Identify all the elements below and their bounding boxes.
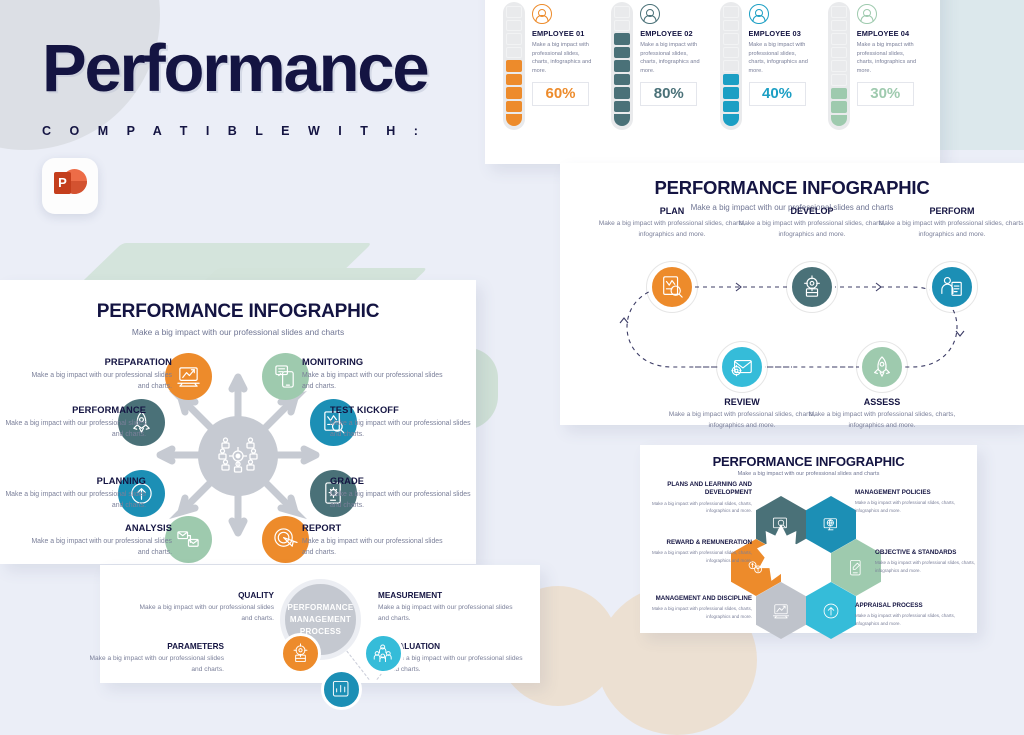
hexagon-item-label: MANAGEMENT POLICIES bbox=[855, 489, 975, 497]
thermo-segment bbox=[723, 87, 739, 99]
process-step-label: PLAN bbox=[593, 206, 751, 216]
hexagon-label-block: MANAGEMENT AND DISCIPLINEMake a big impa… bbox=[632, 595, 752, 620]
process-step-label-block: DEVELOPMake a big impact with profession… bbox=[733, 206, 891, 240]
laptop-chart-icon bbox=[772, 602, 790, 620]
thermo-segment bbox=[831, 88, 847, 100]
thermo-segment bbox=[831, 20, 847, 32]
flowchart-icon bbox=[176, 527, 201, 552]
employee-description: Make a big impact with professional slid… bbox=[532, 41, 594, 76]
pmp-label-block: PARAMETERSMake a big impact with our pro… bbox=[88, 642, 224, 675]
thermo-segment bbox=[614, 33, 630, 45]
mobile-edit-icon bbox=[847, 559, 865, 577]
wheel-icon-circle[interactable] bbox=[165, 353, 212, 400]
employee-percent: 40% bbox=[749, 82, 806, 106]
report-search-icon bbox=[660, 275, 684, 299]
employee-description: Make a big impact with professional slid… bbox=[857, 41, 919, 76]
employee-percent: 60% bbox=[532, 82, 589, 106]
wheel-icon-circle[interactable] bbox=[165, 516, 212, 563]
hexagon-item-label: OBJECTIVE & STANDARDS bbox=[875, 549, 995, 557]
thermo-segment bbox=[723, 114, 739, 126]
thermometer-gauge bbox=[828, 2, 850, 130]
thermo-segment bbox=[614, 47, 630, 59]
employee-card[interactable]: EMPLOYEE 02Make a big impact with profes… bbox=[611, 2, 709, 130]
wheel-item-desc: Make a big impact with our professional … bbox=[22, 536, 172, 559]
employee-card[interactable]: EMPLOYEE 01Make a big impact with profes… bbox=[503, 2, 601, 130]
person-document-icon bbox=[940, 275, 964, 299]
hexagon-item-desc: Make a big impact with professional slid… bbox=[632, 500, 752, 514]
process-step-label: REVIEW bbox=[663, 397, 821, 407]
thermometer-gauge bbox=[720, 2, 742, 130]
pmp-item-label: PARAMETERS bbox=[88, 642, 224, 651]
thermo-segment bbox=[831, 74, 847, 86]
hexagon-item-desc: Make a big impact with professional slid… bbox=[855, 612, 975, 626]
wheel-item-desc: Make a big impact with our professional … bbox=[0, 489, 146, 512]
hexagon-label-block: APPRAISAL PROCESSMake a big impact with … bbox=[855, 602, 975, 627]
process-step-desc: Make a big impact with professional slid… bbox=[873, 219, 1024, 240]
thermo-segment bbox=[723, 47, 739, 59]
target-machine-icon bbox=[800, 275, 824, 299]
process-step-label: PERFORM bbox=[873, 206, 1024, 216]
hexagon-label-block: REWARD & REMUNERATIONMake a big impact w… bbox=[632, 539, 752, 564]
wheel-slide-subtitle: Make a big impact with our professional … bbox=[0, 327, 476, 337]
thermo-segment bbox=[506, 47, 522, 59]
hexagon-item-desc: Make a big impact with professional slid… bbox=[632, 605, 752, 619]
thermo-segment bbox=[506, 101, 522, 113]
process-step-desc: Make a big impact with professional slid… bbox=[803, 410, 961, 431]
thermo-segment bbox=[614, 114, 630, 126]
wheel-item-desc: Make a big impact with our professional … bbox=[302, 536, 452, 559]
wheel-label-block: GRADEMake a big impact with our professi… bbox=[330, 476, 480, 512]
wheel-item-desc: Make a big impact with our professional … bbox=[22, 370, 172, 393]
pmp-icon-circle[interactable] bbox=[280, 633, 321, 674]
pmp-icon-circle[interactable] bbox=[321, 669, 362, 710]
wheel-label-block: PREPARATIONMake a big impact with our pr… bbox=[22, 357, 172, 393]
thermo-segment bbox=[831, 6, 847, 18]
thermo-segment bbox=[723, 6, 739, 18]
hexagon-item-label: REWARD & REMUNERATION bbox=[632, 539, 752, 547]
ppt-letter: P bbox=[54, 172, 71, 194]
slide-employees[interactable]: EMPLOYEE 01Make a big impact with profes… bbox=[485, 0, 940, 164]
wheel-item-desc: Make a big impact with our professional … bbox=[302, 370, 452, 393]
pmp-diagram: PERFORMANCE MANAGEMENT PROCESS QUALITYMa… bbox=[100, 565, 540, 683]
process-step-label-block: REVIEWMake a big impact with professiona… bbox=[663, 397, 821, 431]
employee-name: EMPLOYEE 01 bbox=[532, 29, 594, 38]
process-step-label-block: PLANMake a big impact with professional … bbox=[593, 206, 751, 240]
thermo-segment bbox=[723, 33, 739, 45]
laptop-chart-icon bbox=[176, 364, 201, 389]
process-step-circle[interactable] bbox=[789, 264, 835, 310]
wheel-item-desc: Make a big impact with our professional … bbox=[330, 489, 480, 512]
pmp-item-desc: Make a big impact with our professional … bbox=[88, 654, 224, 675]
wheel-item-label: ANALYSIS bbox=[22, 523, 172, 533]
hexagon-diagram: PLANS AND LEARNING AND DEVELOPMENTMake a… bbox=[640, 477, 977, 629]
wheel-item-label: GRADE bbox=[330, 476, 480, 486]
pmp-icon-circle[interactable] bbox=[363, 633, 404, 674]
process-step-label-block: ASSESSMake a big impact with professiona… bbox=[803, 397, 961, 431]
user-avatar-icon bbox=[857, 4, 877, 24]
process-step-desc: Make a big impact with professional slid… bbox=[663, 410, 821, 431]
process-step-circle[interactable] bbox=[719, 344, 765, 390]
user-avatar-icon bbox=[749, 4, 769, 24]
thermo-segment bbox=[723, 74, 739, 86]
slide-process-flow[interactable]: PERFORMANCE INFOGRAPHIC Make a big impac… bbox=[560, 163, 1024, 425]
rocket-icon bbox=[870, 355, 894, 379]
chart-icon bbox=[331, 679, 352, 700]
process-step-label: ASSESS bbox=[803, 397, 961, 407]
thermo-segment bbox=[614, 6, 630, 18]
process-step-circle[interactable] bbox=[929, 264, 975, 310]
thermo-segment bbox=[506, 114, 522, 126]
wheel-item-desc: Make a big impact with our professional … bbox=[0, 418, 146, 441]
employee-percent: 30% bbox=[857, 82, 914, 106]
thermo-segment bbox=[831, 47, 847, 59]
mobile-message-icon bbox=[273, 364, 298, 389]
thermo-segment bbox=[506, 20, 522, 32]
wheel-item-label: MONITORING bbox=[302, 357, 452, 367]
pmp-label-block: EVALUATIONMake a big impact with our pro… bbox=[388, 642, 524, 675]
hero-block: Performance C O M P A T I B L E W I T H … bbox=[42, 36, 427, 214]
thermo-segment bbox=[506, 87, 522, 99]
wheel-item-label: PREPARATION bbox=[22, 357, 172, 367]
hexagon-item-label: MANAGEMENT AND DISCIPLINE bbox=[632, 595, 752, 603]
wheel-label-block: MONITORINGMake a big impact with our pro… bbox=[302, 357, 452, 393]
process-step-desc: Make a big impact with professional slid… bbox=[593, 219, 751, 240]
thermo-segment bbox=[831, 60, 847, 72]
slide-performance-management-process[interactable]: PERFORMANCE MANAGEMENT PROCESS QUALITYMa… bbox=[100, 565, 540, 683]
thermo-segment bbox=[506, 33, 522, 45]
employee-card[interactable]: EMPLOYEE 04Make a big impact with profes… bbox=[828, 2, 926, 130]
thermo-segment bbox=[614, 20, 630, 32]
wheel-item-label: TEST KICKOFF bbox=[330, 405, 480, 415]
pmp-item-label: EVALUATION bbox=[388, 642, 524, 651]
process-slide-title: PERFORMANCE INFOGRAPHIC bbox=[560, 177, 1024, 199]
employee-card-list: EMPLOYEE 01Make a big impact with profes… bbox=[485, 0, 940, 130]
target-machine-icon bbox=[290, 643, 311, 664]
thermo-segment bbox=[506, 60, 522, 72]
process-step-label: DEVELOP bbox=[733, 206, 891, 216]
pmp-item-desc: Make a big impact with our professional … bbox=[138, 603, 274, 624]
hexagon-label-block: OBJECTIVE & STANDARDSMake a big impact w… bbox=[875, 549, 995, 574]
employee-description: Make a big impact with professional slid… bbox=[749, 41, 811, 76]
thermometer-gauge bbox=[503, 2, 525, 130]
hexagon-item-desc: Make a big impact with professional slid… bbox=[632, 549, 752, 563]
slide-deck-preview: Performance C O M P A T I B L E W I T H … bbox=[0, 0, 1024, 683]
thermo-segment bbox=[723, 101, 739, 113]
wheel-item-label: PERFORMANCE bbox=[0, 405, 146, 415]
hexagon-label-block: PLANS AND LEARNING AND DEVELOPMENTMake a… bbox=[632, 481, 752, 514]
employee-description: Make a big impact with professional slid… bbox=[640, 41, 702, 76]
pmp-label-block: QUALITYMake a big impact with our profes… bbox=[138, 591, 274, 624]
hexagon-item-desc: Make a big impact with professional slid… bbox=[875, 559, 995, 573]
pmp-item-desc: Make a big impact with our professional … bbox=[378, 603, 514, 624]
thermo-segment bbox=[831, 115, 847, 127]
pmp-label-block: MEASUREMENTMake a big impact with our pr… bbox=[378, 591, 514, 624]
hexagon-item-label: APPRAISAL PROCESS bbox=[855, 602, 975, 610]
monitor-globe-icon bbox=[822, 516, 840, 534]
wheel-label-block: REPORTMake a big impact with our profess… bbox=[302, 523, 452, 559]
wheel-item-label: PLANNING bbox=[0, 476, 146, 486]
wheel-item-label: REPORT bbox=[302, 523, 452, 533]
wheel-label-block: PERFORMANCEMake a big impact with our pr… bbox=[0, 405, 146, 441]
thermo-segment bbox=[506, 74, 522, 86]
process-step-circle[interactable] bbox=[649, 264, 695, 310]
pmp-item-desc: Make a big impact with our professional … bbox=[388, 654, 524, 675]
employee-name: EMPLOYEE 03 bbox=[749, 29, 811, 38]
wheel-slide-title: PERFORMANCE INFOGRAPHIC bbox=[0, 301, 476, 323]
page-title: Performance bbox=[42, 36, 427, 102]
process-step-desc: Make a big impact with professional slid… bbox=[733, 219, 891, 240]
thermo-segment bbox=[614, 74, 630, 86]
mail-gear-icon bbox=[730, 355, 754, 379]
thermo-segment bbox=[614, 101, 630, 113]
employee-name: EMPLOYEE 02 bbox=[640, 29, 702, 38]
thermo-segment bbox=[723, 60, 739, 72]
arrow-up-circle-icon bbox=[822, 602, 840, 620]
process-diagram: PLANMake a big impact with professional … bbox=[560, 212, 1024, 417]
thermo-segment bbox=[831, 33, 847, 45]
pmp-item-label: QUALITY bbox=[138, 591, 274, 600]
user-avatar-icon bbox=[640, 4, 660, 24]
pmp-hub-text: PERFORMANCE MANAGEMENT PROCESS bbox=[285, 602, 356, 638]
process-step-circle[interactable] bbox=[859, 344, 905, 390]
click-target-icon bbox=[273, 527, 298, 552]
thermometer-gauge bbox=[611, 2, 633, 130]
team-group-icon bbox=[373, 643, 394, 664]
powerpoint-icon: P bbox=[42, 158, 98, 214]
slide-hexagon[interactable]: PERFORMANCE INFOGRAPHIC Make a big impac… bbox=[640, 445, 977, 633]
wheel-label-block: ANALYSISMake a big impact with our profe… bbox=[22, 523, 172, 559]
thermo-segment bbox=[506, 6, 522, 18]
hexagon-item-label: PLANS AND LEARNING AND DEVELOPMENT bbox=[632, 481, 752, 498]
wheel-label-block: PLANNINGMake a big impact with our profe… bbox=[0, 476, 146, 512]
compatible-with-label: C O M P A T I B L E W I T H : bbox=[42, 124, 427, 138]
user-avatar-icon bbox=[532, 4, 552, 24]
process-step-label-block: PERFORMMake a big impact with profession… bbox=[873, 206, 1024, 240]
wheel-item-desc: Make a big impact with our professional … bbox=[330, 418, 480, 441]
slide-performance-wheel[interactable]: PERFORMANCE INFOGRAPHIC Make a big impac… bbox=[0, 280, 476, 564]
wheel-diagram: PREPARATIONMake a big impact with our pr… bbox=[0, 343, 476, 555]
thermo-segment bbox=[723, 20, 739, 32]
thermo-segment bbox=[831, 101, 847, 113]
pmp-item-label: MEASUREMENT bbox=[378, 591, 514, 600]
thermo-segment bbox=[614, 87, 630, 99]
employee-name: EMPLOYEE 04 bbox=[857, 29, 919, 38]
employee-percent: 80% bbox=[640, 82, 697, 106]
wheel-label-block: TEST KICKOFFMake a big impact with our p… bbox=[330, 405, 480, 441]
employee-card[interactable]: EMPLOYEE 03Make a big impact with profes… bbox=[720, 2, 818, 130]
hexagon-label-block: MANAGEMENT POLICIESMake a big impact wit… bbox=[855, 489, 975, 514]
thermo-segment bbox=[614, 60, 630, 72]
hexagon-item-desc: Make a big impact with professional slid… bbox=[855, 499, 975, 513]
hex-slide-title: PERFORMANCE INFOGRAPHIC bbox=[640, 454, 977, 469]
